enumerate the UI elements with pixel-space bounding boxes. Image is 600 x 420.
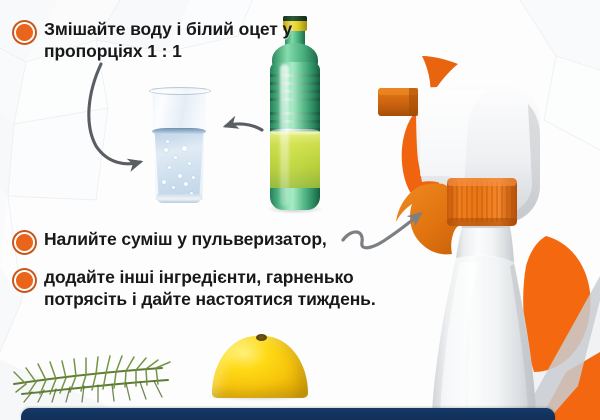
navy-footer-bar bbox=[21, 408, 555, 420]
bullet-text-3: додайте інші інгредієнти, гарненько потр… bbox=[44, 266, 394, 310]
bullet-text-1: Змішайте воду і білий оцет у пропорціях … bbox=[44, 18, 344, 62]
bullet-item-2: Налийте суміш у пульверизатор, bbox=[14, 228, 374, 253]
bullet-text-2: Налийте суміш у пульверизатор, bbox=[44, 228, 327, 250]
orange-dot-bullet-icon bbox=[14, 232, 35, 253]
bullet-list: Змішайте воду і білий оцет у пропорціях … bbox=[0, 0, 400, 420]
orange-dot-bullet-icon bbox=[14, 22, 35, 43]
orange-dot-bullet-icon bbox=[14, 270, 35, 291]
bullet-item-3: додайте інші інгредієнти, гарненько потр… bbox=[14, 266, 394, 310]
bullet-item-1: Змішайте воду і білий оцет у пропорціях … bbox=[14, 18, 344, 62]
infographic-canvas: Змішайте воду і білий оцет у пропорціях … bbox=[0, 0, 600, 420]
